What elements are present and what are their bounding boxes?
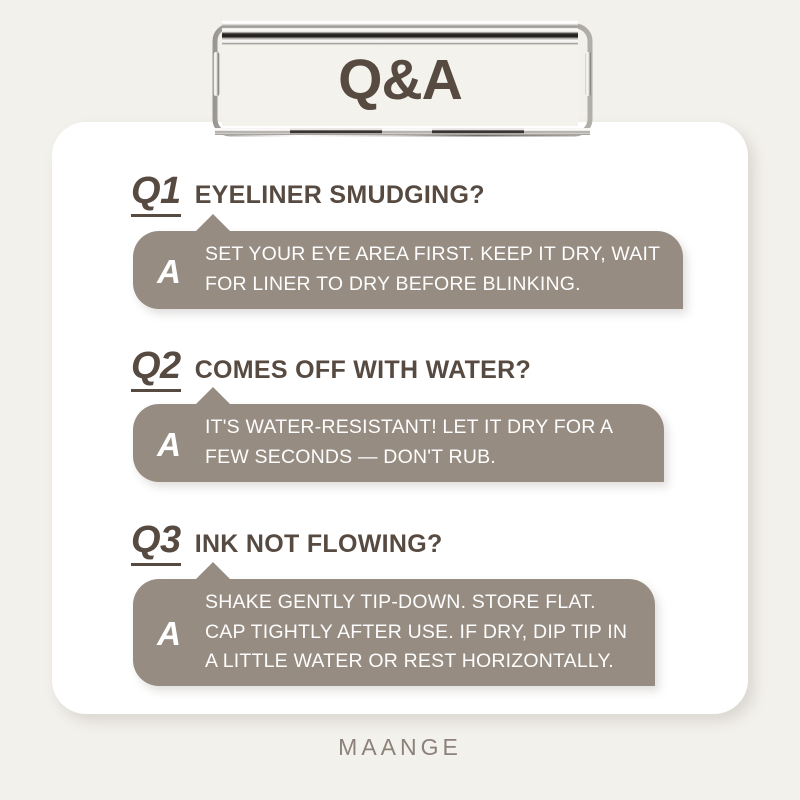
answer-text-2: IT'S WATER-RESISTANT! LET IT DRY FOR A F… — [205, 413, 664, 472]
question-row-3: Q3 INK NOT FLOWING? — [131, 521, 443, 566]
question-row-1: Q1 EYELINER SMUDGING? — [131, 172, 485, 217]
answer-bubble-1: A SET YOUR EYE AREA FIRST. KEEP IT DRY, … — [133, 231, 683, 309]
answer-mark-3: A — [133, 617, 205, 650]
answer-mark-2: A — [133, 428, 205, 461]
answer-text-1: SET YOUR EYE AREA FIRST. KEEP IT DRY, WA… — [205, 240, 683, 299]
answer-bubble-2: A IT'S WATER-RESISTANT! LET IT DRY FOR A… — [133, 404, 664, 482]
question-text-3: INK NOT FLOWING? — [195, 532, 443, 557]
page-title: Q&A — [0, 52, 800, 109]
poster-canvas: Q&A — [0, 0, 800, 800]
answer-text-3: SHAKE GENTLY TIP-DOWN. STORE FLAT. CAP T… — [205, 588, 655, 677]
question-number-2: Q2 — [131, 347, 181, 392]
clip-top-highlight — [222, 21, 578, 23]
question-number-1: Q1 — [131, 172, 181, 217]
brand-wordmark: MAANGE — [0, 734, 800, 761]
question-text-1: EYELINER SMUDGING? — [195, 183, 485, 208]
question-text-2: COMES OFF WITH WATER? — [195, 358, 531, 383]
answer-mark-1: A — [133, 255, 205, 288]
question-number-3: Q3 — [131, 521, 181, 566]
answer-bubble-3: A SHAKE GENTLY TIP-DOWN. STORE FLAT. CAP… — [133, 579, 655, 686]
question-row-2: Q2 COMES OFF WITH WATER? — [131, 347, 531, 392]
